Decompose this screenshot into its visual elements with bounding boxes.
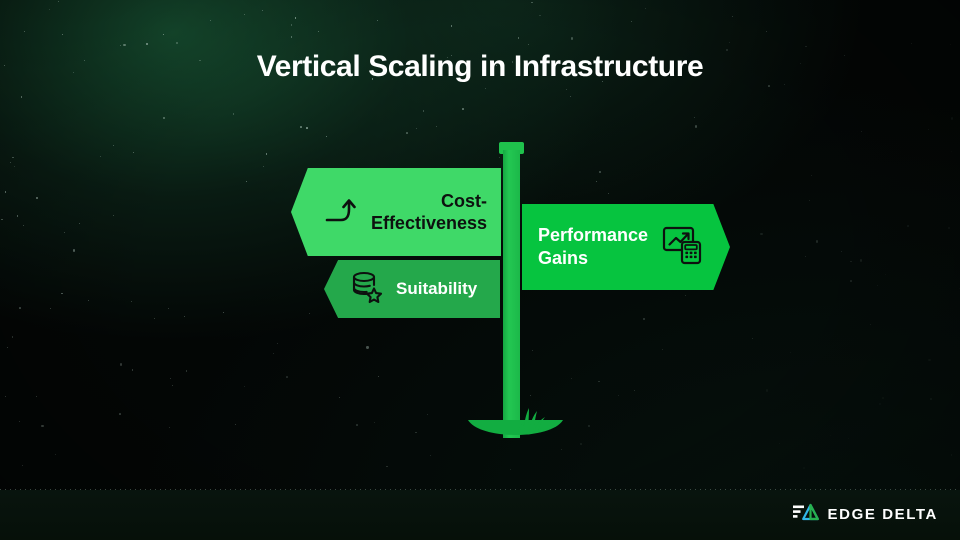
edge-delta-logo-icon bbox=[793, 502, 819, 527]
sign-suitability[interactable]: Suitability bbox=[324, 260, 500, 318]
sign-performance-gains-label: Performance Gains bbox=[538, 224, 648, 271]
sign-label-line-1: Cost- bbox=[441, 191, 487, 211]
database-star-icon bbox=[348, 268, 386, 311]
footer-divider bbox=[0, 489, 960, 490]
sign-cost-effectiveness-label: Cost- Effectiveness bbox=[361, 190, 487, 235]
grass-icon bbox=[512, 404, 548, 432]
sign-suitability-label: Suitability bbox=[396, 279, 477, 299]
trending-up-arrow-icon bbox=[321, 190, 361, 235]
sign-label-line-1: Performance bbox=[538, 225, 648, 245]
brand-name-label: EDGE DELTA bbox=[828, 506, 938, 523]
sign-label-line-2: Effectiveness bbox=[371, 213, 487, 233]
slide-canvas: Vertical Scaling in Infrastructure Cost-… bbox=[0, 0, 960, 540]
signpost-pole bbox=[503, 150, 520, 438]
brand-logo: EDGE DELTA bbox=[793, 502, 938, 527]
grass-tuft-decoration bbox=[512, 404, 548, 432]
chart-calculator-icon bbox=[660, 223, 704, 272]
sign-cost-effectiveness[interactable]: Cost- Effectiveness bbox=[291, 168, 501, 256]
sign-performance-gains[interactable]: Performance Gains bbox=[522, 204, 730, 290]
sign-label-line-2: Gains bbox=[538, 248, 588, 268]
page-title: Vertical Scaling in Infrastructure bbox=[0, 50, 960, 84]
